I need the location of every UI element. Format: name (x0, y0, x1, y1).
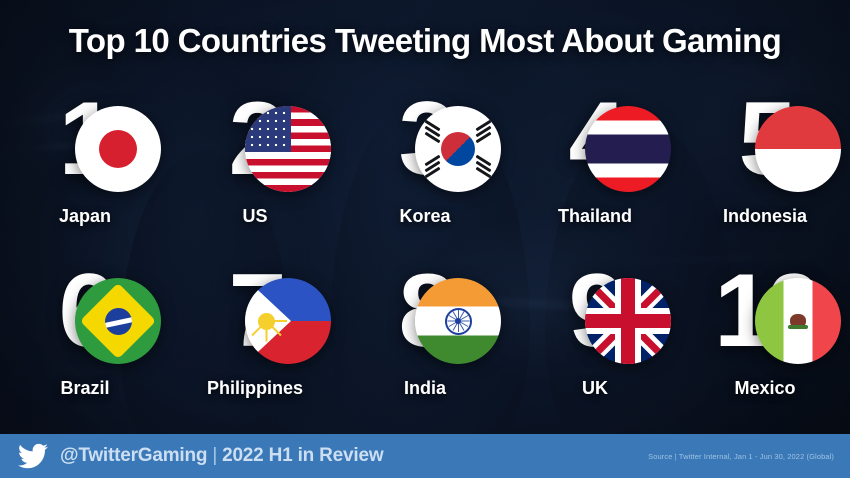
india-flag-icon (415, 278, 501, 364)
page-title: Top 10 Countries Tweeting Most About Gam… (0, 22, 850, 60)
japan-sun-disc (99, 130, 137, 168)
ranking-item-thailand: 4 Thailand (510, 78, 680, 250)
ranking-item-india: 8 India (340, 250, 510, 422)
ranking-item-philippines: 7 Philippines (170, 250, 340, 422)
rank-badge: 7 (229, 250, 282, 372)
thailand-flag-icon (585, 106, 671, 192)
rank-badge: 10 (714, 250, 816, 372)
source-attribution: Source | Twitter Internal, Jan 1 - Jun 3… (648, 452, 834, 461)
us-stars (245, 106, 291, 152)
footer-bar: @TwitterGaming | 2022 H1 in Review Sourc… (0, 434, 850, 478)
country-label: Korea (399, 206, 450, 227)
south-korea-flag-icon (415, 106, 501, 192)
brazil-banner (105, 316, 132, 328)
mexico-flag-icon (755, 278, 841, 364)
rank-badge: 9 (569, 250, 622, 372)
uk-cross-red (585, 314, 671, 328)
brazil-globe (105, 308, 132, 335)
rank-badge: 5 (739, 78, 792, 200)
philippines-sun (258, 313, 275, 330)
rank-badge: 2 (229, 78, 282, 200)
ranking-row-bottom: 6 Brazil 7 (0, 250, 850, 422)
korea-taegeuk (441, 132, 475, 166)
ranking-item-indonesia: 5 Indonesia (680, 78, 850, 250)
ranking-item-uk: 9 UK (510, 250, 680, 422)
country-label: Mexico (734, 378, 795, 399)
country-label: Brazil (60, 378, 109, 399)
indonesia-flag-icon (755, 106, 841, 192)
india-chakra-hub (455, 318, 461, 324)
united-states-flag-icon (245, 106, 331, 192)
rank-badge: 1 (59, 78, 112, 200)
rank-badge: 3 (399, 78, 452, 200)
country-label: India (404, 378, 446, 399)
ranking-item-brazil: 6 Brazil (0, 250, 170, 422)
philippines-flag-icon (245, 278, 331, 364)
ranking-item-mexico: 10 Mexico (680, 250, 850, 422)
country-label: Thailand (558, 206, 632, 227)
country-label: Indonesia (723, 206, 807, 227)
infographic-canvas: Top 10 Countries Tweeting Most About Gam… (0, 0, 850, 478)
mexico-coat-of-arms-base (788, 325, 808, 329)
ranking-row-top: 1 Japan 2 US (0, 78, 850, 250)
rank-badge: 4 (569, 78, 622, 200)
country-label: US (242, 206, 267, 227)
ranking-grid: 1 Japan 2 US (0, 78, 850, 422)
twitter-bird-icon (16, 441, 50, 471)
country-label: UK (582, 378, 608, 399)
footer-separator: | (212, 445, 217, 467)
country-label: Philippines (207, 378, 303, 399)
ranking-item-japan: 1 Japan (0, 78, 170, 250)
brazil-flag-icon (75, 278, 161, 364)
japan-flag-icon (75, 106, 161, 192)
footer-subtitle: 2022 H1 in Review (222, 445, 383, 467)
footer-handle[interactable]: @TwitterGaming (60, 445, 207, 467)
united-kingdom-flag-icon (585, 278, 671, 364)
ranking-item-korea: 3 (340, 78, 510, 250)
rank-badge: 6 (59, 250, 112, 372)
country-label: Japan (59, 206, 111, 227)
rank-badge: 8 (399, 250, 452, 372)
ranking-item-us: 2 US (170, 78, 340, 250)
